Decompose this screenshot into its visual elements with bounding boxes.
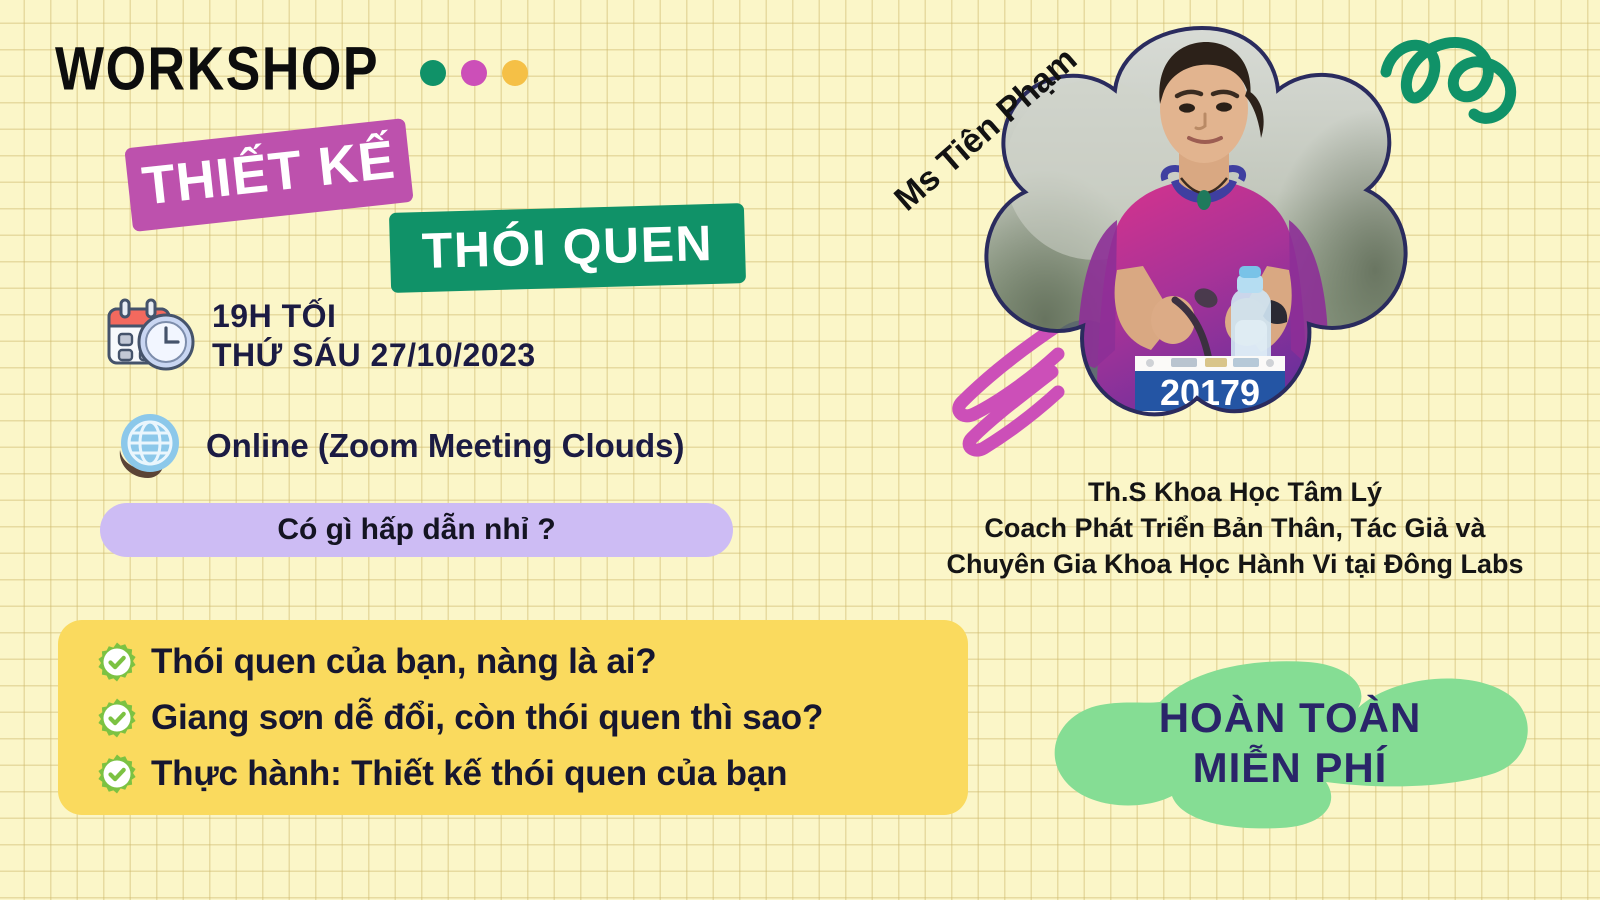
credential-line: Chuyên Gia Khoa Học Hành Vi tại Đông Lab…	[905, 547, 1565, 583]
list-item: Giang sơn dễ đổi, còn thói quen thì sao?	[96, 690, 968, 746]
green-squiggle-icon	[1380, 22, 1540, 152]
dot-green-icon	[420, 60, 446, 86]
list-item: Thói quen của bạn, nàng là ai?	[96, 634, 968, 690]
dot-magenta-icon	[461, 60, 487, 86]
free-badge-line1: HOÀN TOÀN	[1159, 694, 1422, 741]
calendar-clock-icon	[104, 296, 196, 376]
decorative-dots	[420, 60, 528, 86]
event-location: Online (Zoom Meeting Clouds)	[206, 427, 684, 465]
event-date: THỨ SÁU 27/10/2023	[212, 337, 536, 374]
agenda-item-label: Giang sơn dễ đổi, còn thói quen thì sao?	[151, 698, 823, 738]
green-check-badge-icon	[96, 641, 138, 683]
event-time: 19H TỐI	[212, 298, 536, 335]
list-item: Thực hành: Thiết kế thói quen của bạn	[96, 746, 968, 802]
free-badge: HOÀN TOÀN MIỄN PHÍ	[1040, 650, 1540, 835]
agenda-item-label: Thực hành: Thiết kế thói quen của bạn	[151, 754, 787, 794]
green-check-badge-icon	[96, 697, 138, 739]
credential-line: Th.S Khoa Học Tâm Lý	[905, 475, 1565, 511]
poster-canvas: WORKSHOP THIẾT KẾ THÓI QUEN 19H TỐI THỨ …	[0, 0, 1600, 900]
credential-line: Coach Phát Triển Bản Thân, Tác Giả và	[905, 511, 1565, 547]
event-location-row: Online (Zoom Meeting Clouds)	[112, 410, 684, 482]
green-check-badge-icon	[96, 753, 138, 795]
title-ribbon-thiet-ke: THIẾT KẾ	[124, 118, 413, 232]
dot-yellow-icon	[502, 60, 528, 86]
page-title: WORKSHOP	[55, 34, 379, 105]
speaker-credentials: Th.S Khoa Học Tâm Lý Coach Phát Triển Bả…	[905, 475, 1565, 583]
free-badge-line2: MIỄN PHÍ	[1193, 744, 1388, 791]
teaser-pill: Có gì hấp dẫn nhỉ ?	[100, 503, 733, 557]
agenda-item-label: Thói quen của bạn, nàng là ai?	[151, 642, 656, 682]
title-ribbon-thoi-quen: THÓI QUEN	[389, 203, 746, 293]
globe-icon	[112, 410, 184, 482]
event-time-row: 19H TỐI THỨ SÁU 27/10/2023	[104, 296, 536, 376]
agenda-card: Thói quen của bạn, nàng là ai? Giang sơn…	[58, 620, 968, 815]
